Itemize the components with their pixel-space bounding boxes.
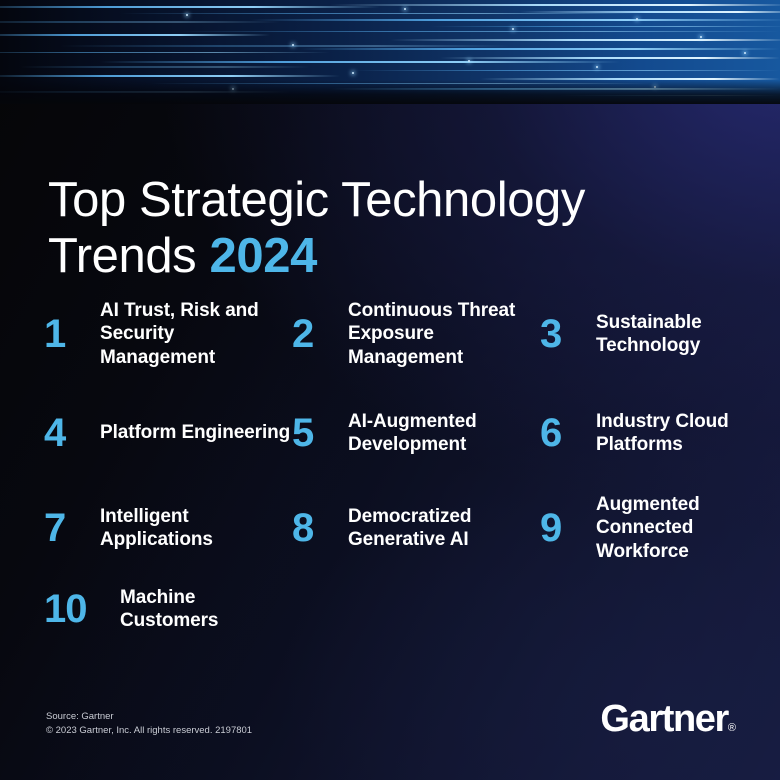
trend-number-6: 6 <box>540 413 596 453</box>
title-year: 2024 <box>210 229 317 283</box>
trend-label-2: Continuous Threat Exposure Management <box>348 299 540 369</box>
trend-number-10: 10 <box>44 589 120 629</box>
trend-number-7: 7 <box>44 508 100 548</box>
gartner-logo-text: Gartner <box>600 698 727 740</box>
trend-item-6: 6 Industry Cloud Platforms <box>540 384 744 482</box>
trend-item-2: 2 Continuous Threat Exposure Management <box>292 284 540 384</box>
trends-row-1: 1 AI Trust, Risk and Security Management… <box>44 284 744 384</box>
trend-number-5: 5 <box>292 413 348 453</box>
title-line-2: Trends <box>48 229 196 283</box>
registered-trademark-icon: ® <box>728 722 736 734</box>
source-line: Source: Gartner <box>46 710 252 724</box>
trend-number-4: 4 <box>44 413 100 453</box>
source-attribution: Source: Gartner © 2023 Gartner, Inc. All… <box>46 710 252 739</box>
trend-label-9: Augmented Connected Workforce <box>596 493 744 563</box>
trend-item-10: 10 Machine Customers <box>44 574 292 644</box>
trend-number-1: 1 <box>44 314 100 354</box>
trends-row-3: 7 Intelligent Applications 8 Democratize… <box>44 482 744 574</box>
trends-row-4-spacer <box>292 574 540 644</box>
trend-label-5: AI-Augmented Development <box>348 410 540 456</box>
trends-row-4-spacer-2 <box>540 574 744 644</box>
trends-row-2: 4 Platform Engineering 5 AI-Augmented De… <box>44 384 744 482</box>
trend-item-9: 9 Augmented Connected Workforce <box>540 482 744 574</box>
trend-label-3: Sustainable Technology <box>596 311 744 357</box>
trend-label-8: Democratized Generative AI <box>348 505 540 551</box>
trend-item-4: 4 Platform Engineering <box>44 384 292 482</box>
infographic-poster: Top Strategic Technology Trends 2024 1 A… <box>0 0 780 780</box>
trend-item-7: 7 Intelligent Applications <box>44 482 292 574</box>
trends-row-4: 10 Machine Customers <box>44 574 744 644</box>
trend-number-2: 2 <box>292 314 348 354</box>
page-title: Top Strategic Technology Trends 2024 <box>48 173 708 285</box>
trend-number-3: 3 <box>540 314 596 354</box>
trend-item-5: 5 AI-Augmented Development <box>292 384 540 482</box>
trend-label-7: Intelligent Applications <box>100 505 292 551</box>
trend-number-9: 9 <box>540 508 596 548</box>
trend-label-4: Platform Engineering <box>100 421 290 444</box>
trend-item-8: 8 Democratized Generative AI <box>292 482 540 574</box>
trend-label-6: Industry Cloud Platforms <box>596 410 744 456</box>
trend-label-1: AI Trust, Risk and Security Management <box>100 299 292 369</box>
trend-label-10: Machine Customers <box>120 586 292 632</box>
trends-grid: 1 AI Trust, Risk and Security Management… <box>44 284 744 644</box>
tech-light-streaks-graphic <box>0 0 780 104</box>
trend-item-3: 3 Sustainable Technology <box>540 284 744 384</box>
gartner-logo: Gartner® <box>600 700 736 738</box>
title-line-1: Top Strategic Technology <box>48 173 585 227</box>
trend-number-8: 8 <box>292 508 348 548</box>
trend-item-1: 1 AI Trust, Risk and Security Management <box>44 284 292 384</box>
copyright-line: © 2023 Gartner, Inc. All rights reserved… <box>46 724 252 738</box>
